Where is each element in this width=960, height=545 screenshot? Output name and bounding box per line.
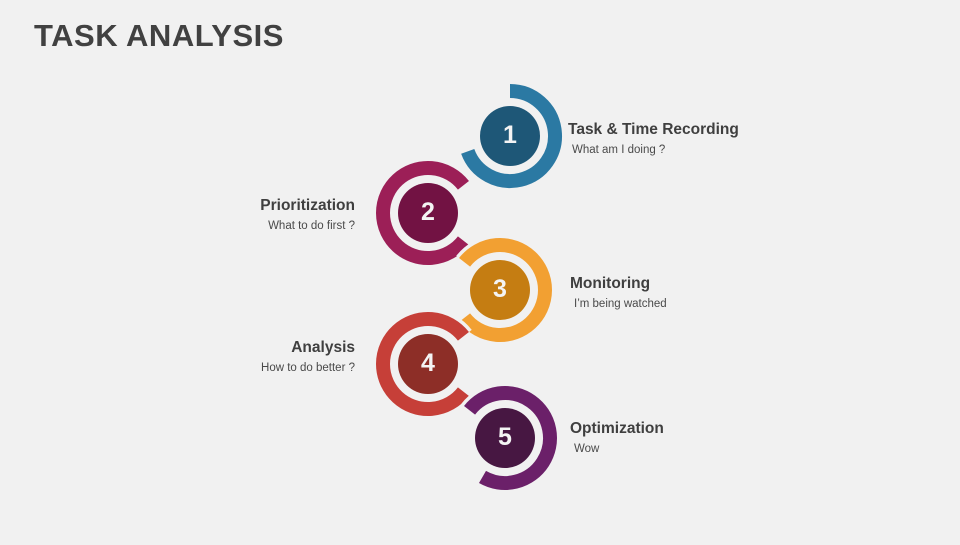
step-subtitle-4: How to do better ? bbox=[0, 360, 355, 377]
step-subtitle-5: Wow bbox=[574, 441, 664, 458]
step-number-4: 4 bbox=[398, 351, 458, 376]
step-subtitle-3: I’m being watched bbox=[574, 296, 667, 313]
step-number-3: 3 bbox=[470, 277, 530, 302]
step-number-1: 1 bbox=[480, 123, 540, 148]
step-subtitle-2: What to do first ? bbox=[0, 218, 355, 235]
slide-canvas: TASK ANALYSIS 1Task & Time RecordingWhat… bbox=[0, 0, 960, 540]
step-label-5: OptimizationWow bbox=[570, 419, 664, 458]
diagram-labels-layer: 1Task & Time RecordingWhat am I doing ?2… bbox=[0, 0, 960, 540]
step-number-2: 2 bbox=[398, 200, 458, 225]
step-title-4: Analysis bbox=[0, 338, 355, 357]
step-title-3: Monitoring bbox=[570, 274, 667, 293]
step-label-1: Task & Time RecordingWhat am I doing ? bbox=[568, 120, 739, 159]
step-title-5: Optimization bbox=[570, 419, 664, 438]
step-number-5: 5 bbox=[475, 425, 535, 450]
step-title-1: Task & Time Recording bbox=[568, 120, 739, 139]
step-title-2: Prioritization bbox=[0, 196, 355, 215]
step-label-3: MonitoringI’m being watched bbox=[570, 274, 667, 313]
step-label-4: AnalysisHow to do better ? bbox=[0, 338, 355, 377]
step-label-2: PrioritizationWhat to do first ? bbox=[0, 196, 355, 235]
step-subtitle-1: What am I doing ? bbox=[572, 142, 739, 159]
